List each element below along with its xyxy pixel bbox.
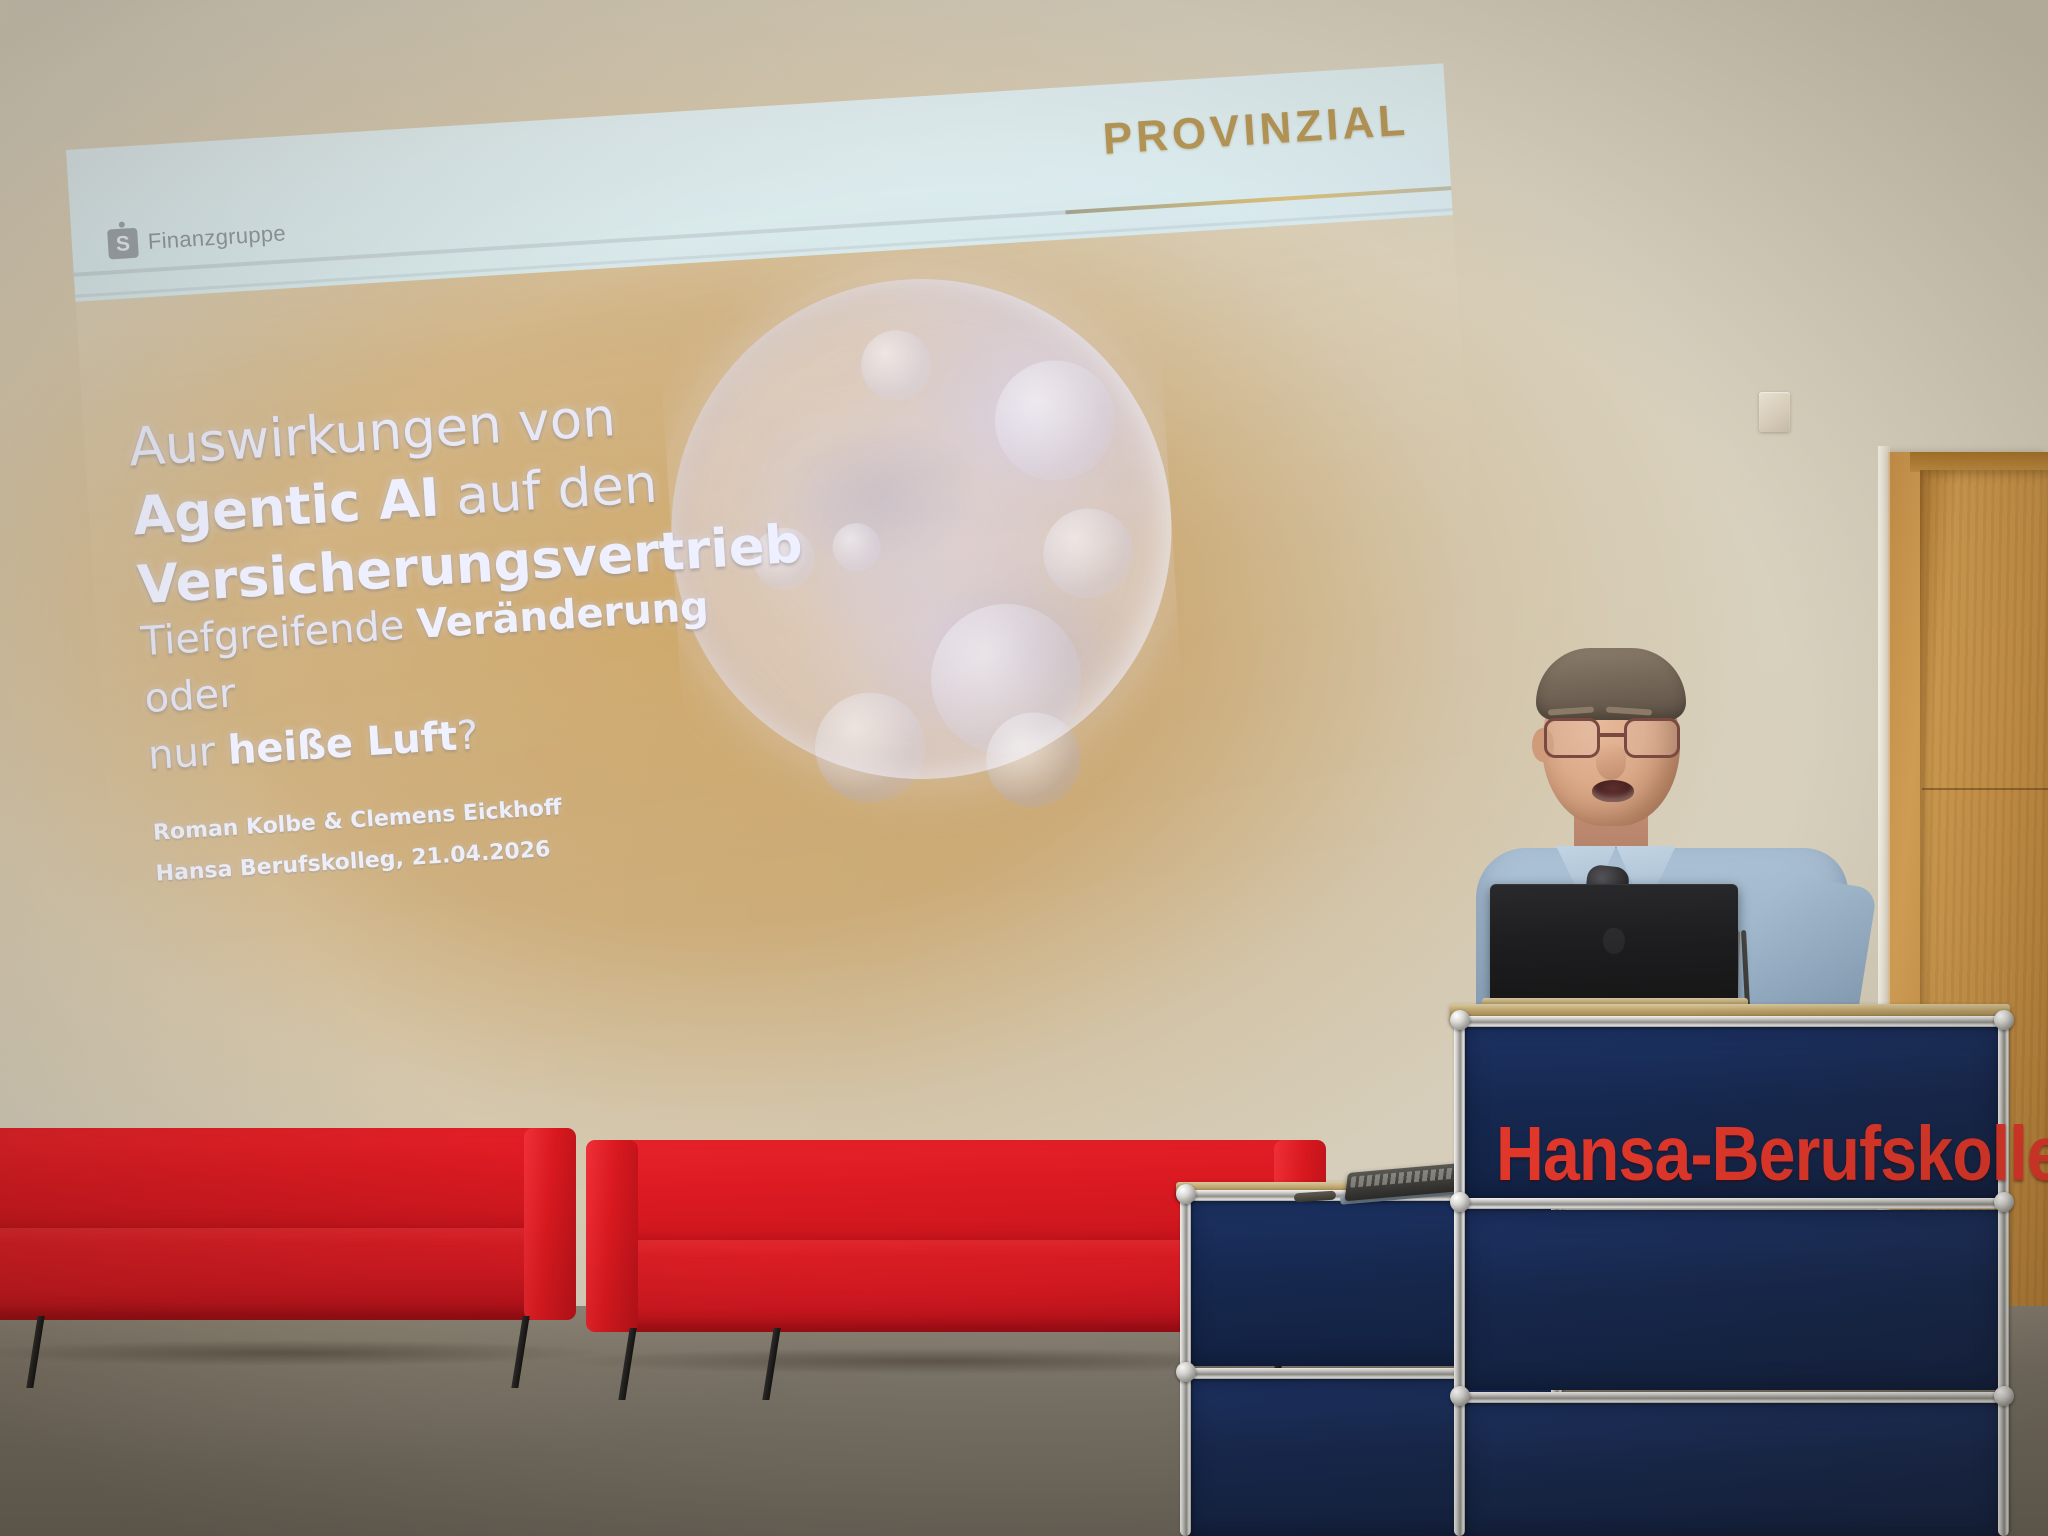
subtitle-line1-prefix: Tiefgreifende <box>140 603 406 665</box>
glasses-lens-left <box>1544 718 1600 758</box>
slide-title-line2-bold: Agentic AI <box>131 467 441 547</box>
sofa-shadow <box>0 1340 600 1366</box>
subtitle-line2-prefix: nur <box>147 728 217 778</box>
usm-connector-ball <box>1176 1362 1196 1382</box>
usm-connector-ball <box>1450 1192 1470 1212</box>
sofa-backrest <box>0 1128 566 1236</box>
podium-frame-tube <box>1454 1198 2010 1209</box>
door-header-trim <box>1910 452 2048 472</box>
podium-school-name: Hansa-Berufskolleg <box>1496 1110 2048 1199</box>
sofa-armrest-left <box>586 1140 638 1332</box>
laptop[interactable] <box>1490 884 1738 1002</box>
projected-slide: PROVINZIAL S Finanzgruppe Auswirkungen v… <box>66 63 1494 948</box>
usm-connector-ball <box>1176 1184 1196 1204</box>
usm-connector-ball <box>1994 1386 2014 1406</box>
subtitle-line1-bold: Veränderung <box>416 584 710 648</box>
provinzial-brand-logo: PROVINZIAL <box>1101 96 1410 165</box>
podium-frame-tube <box>1454 1392 2010 1403</box>
presenter-nose <box>1596 744 1626 780</box>
glasses-bridge <box>1600 733 1624 737</box>
apple-logo-icon <box>1603 928 1625 954</box>
subtitle-line2-suffix: ? <box>456 712 480 759</box>
podium-frame-tube <box>1454 1016 1465 1536</box>
light-switch-icon[interactable] <box>1759 392 1790 432</box>
slide-title-line2-suffix: auf den <box>454 453 659 527</box>
finanzgruppe-logo: S Finanzgruppe <box>107 218 287 259</box>
subtitle-line2-bold: heiße Luft <box>226 713 458 773</box>
usm-connector-ball <box>1450 1010 1470 1030</box>
podium-frame-tube <box>1454 1016 2010 1027</box>
sparkassen-s-icon: S <box>107 228 139 260</box>
subtitle-line1-suffix: oder <box>143 670 237 722</box>
sofa-left[interactable] <box>0 1128 566 1328</box>
finanzgruppe-label: Finanzgruppe <box>147 220 287 255</box>
podium-panel-lower <box>1462 1402 2002 1536</box>
presenter-mouth <box>1592 780 1634 802</box>
glasses-lens-right <box>1624 718 1680 758</box>
podium-panel-middle <box>1462 1210 2002 1390</box>
usm-connector-ball <box>1450 1386 1470 1406</box>
usm-connector-ball <box>1994 1010 2014 1030</box>
sofa-seat <box>0 1228 566 1320</box>
podium-frame-tube <box>1998 1016 2009 1536</box>
sofa-armrest-right <box>524 1128 576 1320</box>
door-seam <box>1922 788 2048 790</box>
presentation-photo-scene: PROVINZIAL S Finanzgruppe Auswirkungen v… <box>0 0 2048 1536</box>
